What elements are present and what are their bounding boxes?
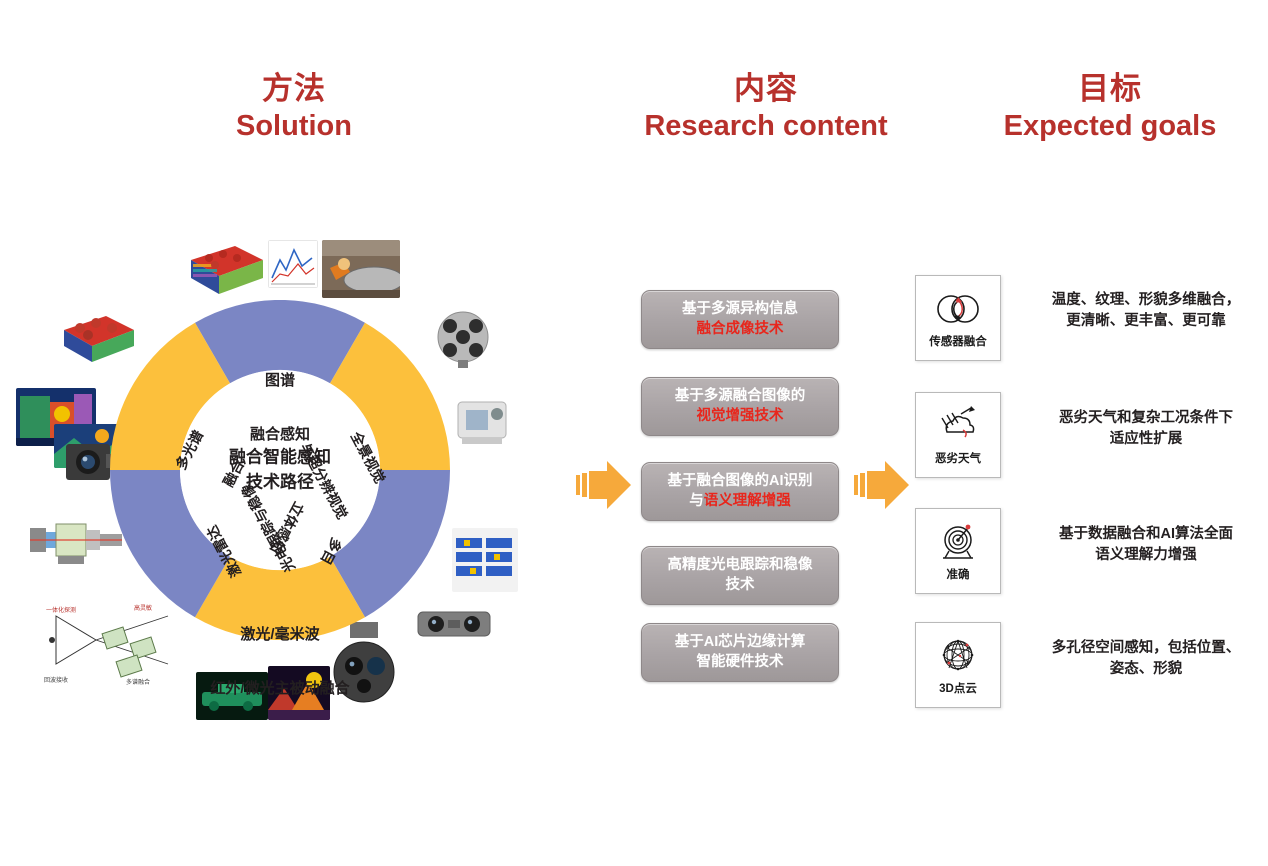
column-header-solution: 方法 Solution [181,72,407,142]
research-box-visual-enhancement[interactable]: 基于多源融合图像的 视觉增强技术 [641,377,839,436]
diagram-canvas: 方法 Solution 内容 Research content 目标 Expec… [0,0,1268,866]
research-box-optical-tracking-l1: 高精度光电跟踪和稳像 [668,556,813,576]
research-box-visual-enhancement-l2: 视觉增强技术 [697,407,784,427]
research-box-ai-chip-l1: 基于AI芯片边缘计算 [675,633,806,653]
goal-text-accuracy-l2: 语义理解力增强 [1030,545,1262,566]
goal-card-point-cloud[interactable]: 3D点云 [915,622,1001,708]
wireframe-sphere-icon [933,634,983,678]
research-box-ai-recognition-l2-red: 语义理解增强 [704,493,791,509]
column-header-solution-en: Solution [181,110,407,142]
photo-hyperspectral-cube [185,238,267,298]
research-box-fusion-imaging[interactable]: 基于多源异构信息 融合成像技术 [641,290,839,349]
research-box-fusion-imaging-l1: 基于多源异构信息 [682,300,798,320]
column-header-goals: 目标 Expected goals [960,72,1260,142]
column-header-goals-cn: 目标 [960,72,1260,107]
wheel-hub-label: 融合智能感知 技术路径 [187,445,373,494]
research-box-optical-tracking-l2: 技术 [726,576,755,596]
goal-card-accuracy-caption: 准确 [947,566,970,582]
research-box-visual-enhancement-l1: 基于多源融合图像的 [675,387,806,407]
goal-card-bad-weather-caption: 恶劣天气 [935,450,981,466]
column-header-content-cn: 内容 [588,72,944,107]
photo-infrared-scene [268,666,330,720]
research-box-fusion-imaging-l2: 融合成像技术 [697,320,784,340]
svg-text:多谱融合: 多谱融合 [126,678,150,686]
goal-card-bad-weather[interactable]: 恶劣天气 [915,392,1001,478]
goal-text-sensor-fusion-l2: 更清晰、更丰富、更可靠 [1030,311,1262,332]
research-box-ai-recognition-l1: 基于融合图像的AI识别 [668,472,813,492]
goal-text-sensor-fusion-l1: 温度、纹理、形貌多维融合， [1030,290,1262,311]
overlapping-circles-icon [933,287,983,331]
photo-pipeline-inspection [322,240,400,298]
arrow-content-to-goals [854,460,910,515]
research-box-ai-recognition-l2-prefix: 与 [689,493,704,509]
research-box-ai-chip-edge-computing[interactable]: 基于AI芯片边缘计算 智能硬件技术 [641,623,839,682]
column-header-content-en: Research content [588,110,944,142]
column-header-content: 内容 Research content [588,72,944,142]
photo-3d-reconstruction [452,528,518,592]
goal-text-sensor-fusion: 温度、纹理、形貌多维融合， 更清晰、更丰富、更可靠 [1030,290,1262,332]
rain-weather-icon [933,404,983,448]
research-box-ai-recognition[interactable]: 基于融合图像的AI识别 与语义理解增强 [641,462,839,521]
arrow-solution-to-content [576,460,632,515]
goal-text-accuracy-l1: 基于数据融合和AI算法全面 [1030,524,1262,545]
goal-text-bad-weather-l1: 恶劣天气和复杂工况条件下 [1030,408,1262,429]
photo-night-vision [196,672,268,720]
target-dartboard-icon [933,520,983,564]
column-header-solution-cn: 方法 [181,72,407,107]
solution-wheel: 融合智能感知 技术路径 图谱 融合感知 全景视觉 与超分辨视觉 多目 立体感知 … [110,300,450,640]
goal-card-accuracy[interactable]: 准确 [915,508,1001,594]
goal-text-bad-weather: 恶劣天气和复杂工况条件下 适应性扩展 [1030,408,1262,450]
goal-text-bad-weather-l2: 适应性扩展 [1030,429,1262,450]
goal-text-point-cloud-l2: 姿态、形貌 [1030,659,1262,680]
svg-text:一体化探测: 一体化探测 [46,606,76,614]
wheel-hub-line1: 融合智能感知 [187,445,373,470]
goal-card-sensor-fusion[interactable]: 传感器融合 [915,275,1001,361]
research-box-optical-tracking[interactable]: 高精度光电跟踪和稳像 技术 [641,546,839,605]
column-header-goals-en: Expected goals [960,110,1260,142]
goal-text-point-cloud-l1: 多孔径空间感知，包括位置、 [1030,638,1262,659]
goal-text-point-cloud: 多孔径空间感知，包括位置、 姿态、形貌 [1030,638,1262,680]
goal-text-accuracy: 基于数据融合和AI算法全面 语义理解力增强 [1030,524,1262,566]
research-box-ai-recognition-l2: 与语义理解增强 [689,492,791,512]
wheel-hub-line2: 技术路径 [187,470,373,495]
research-box-ai-chip-l2: 智能硬件技术 [697,653,784,673]
photo-spectrum-plot [268,240,318,288]
goal-card-sensor-fusion-caption: 传感器融合 [929,333,987,349]
photo-optical-instrument [452,392,514,448]
goal-card-point-cloud-caption: 3D点云 [939,680,977,696]
svg-text:回波接收: 回波接收 [44,676,68,684]
